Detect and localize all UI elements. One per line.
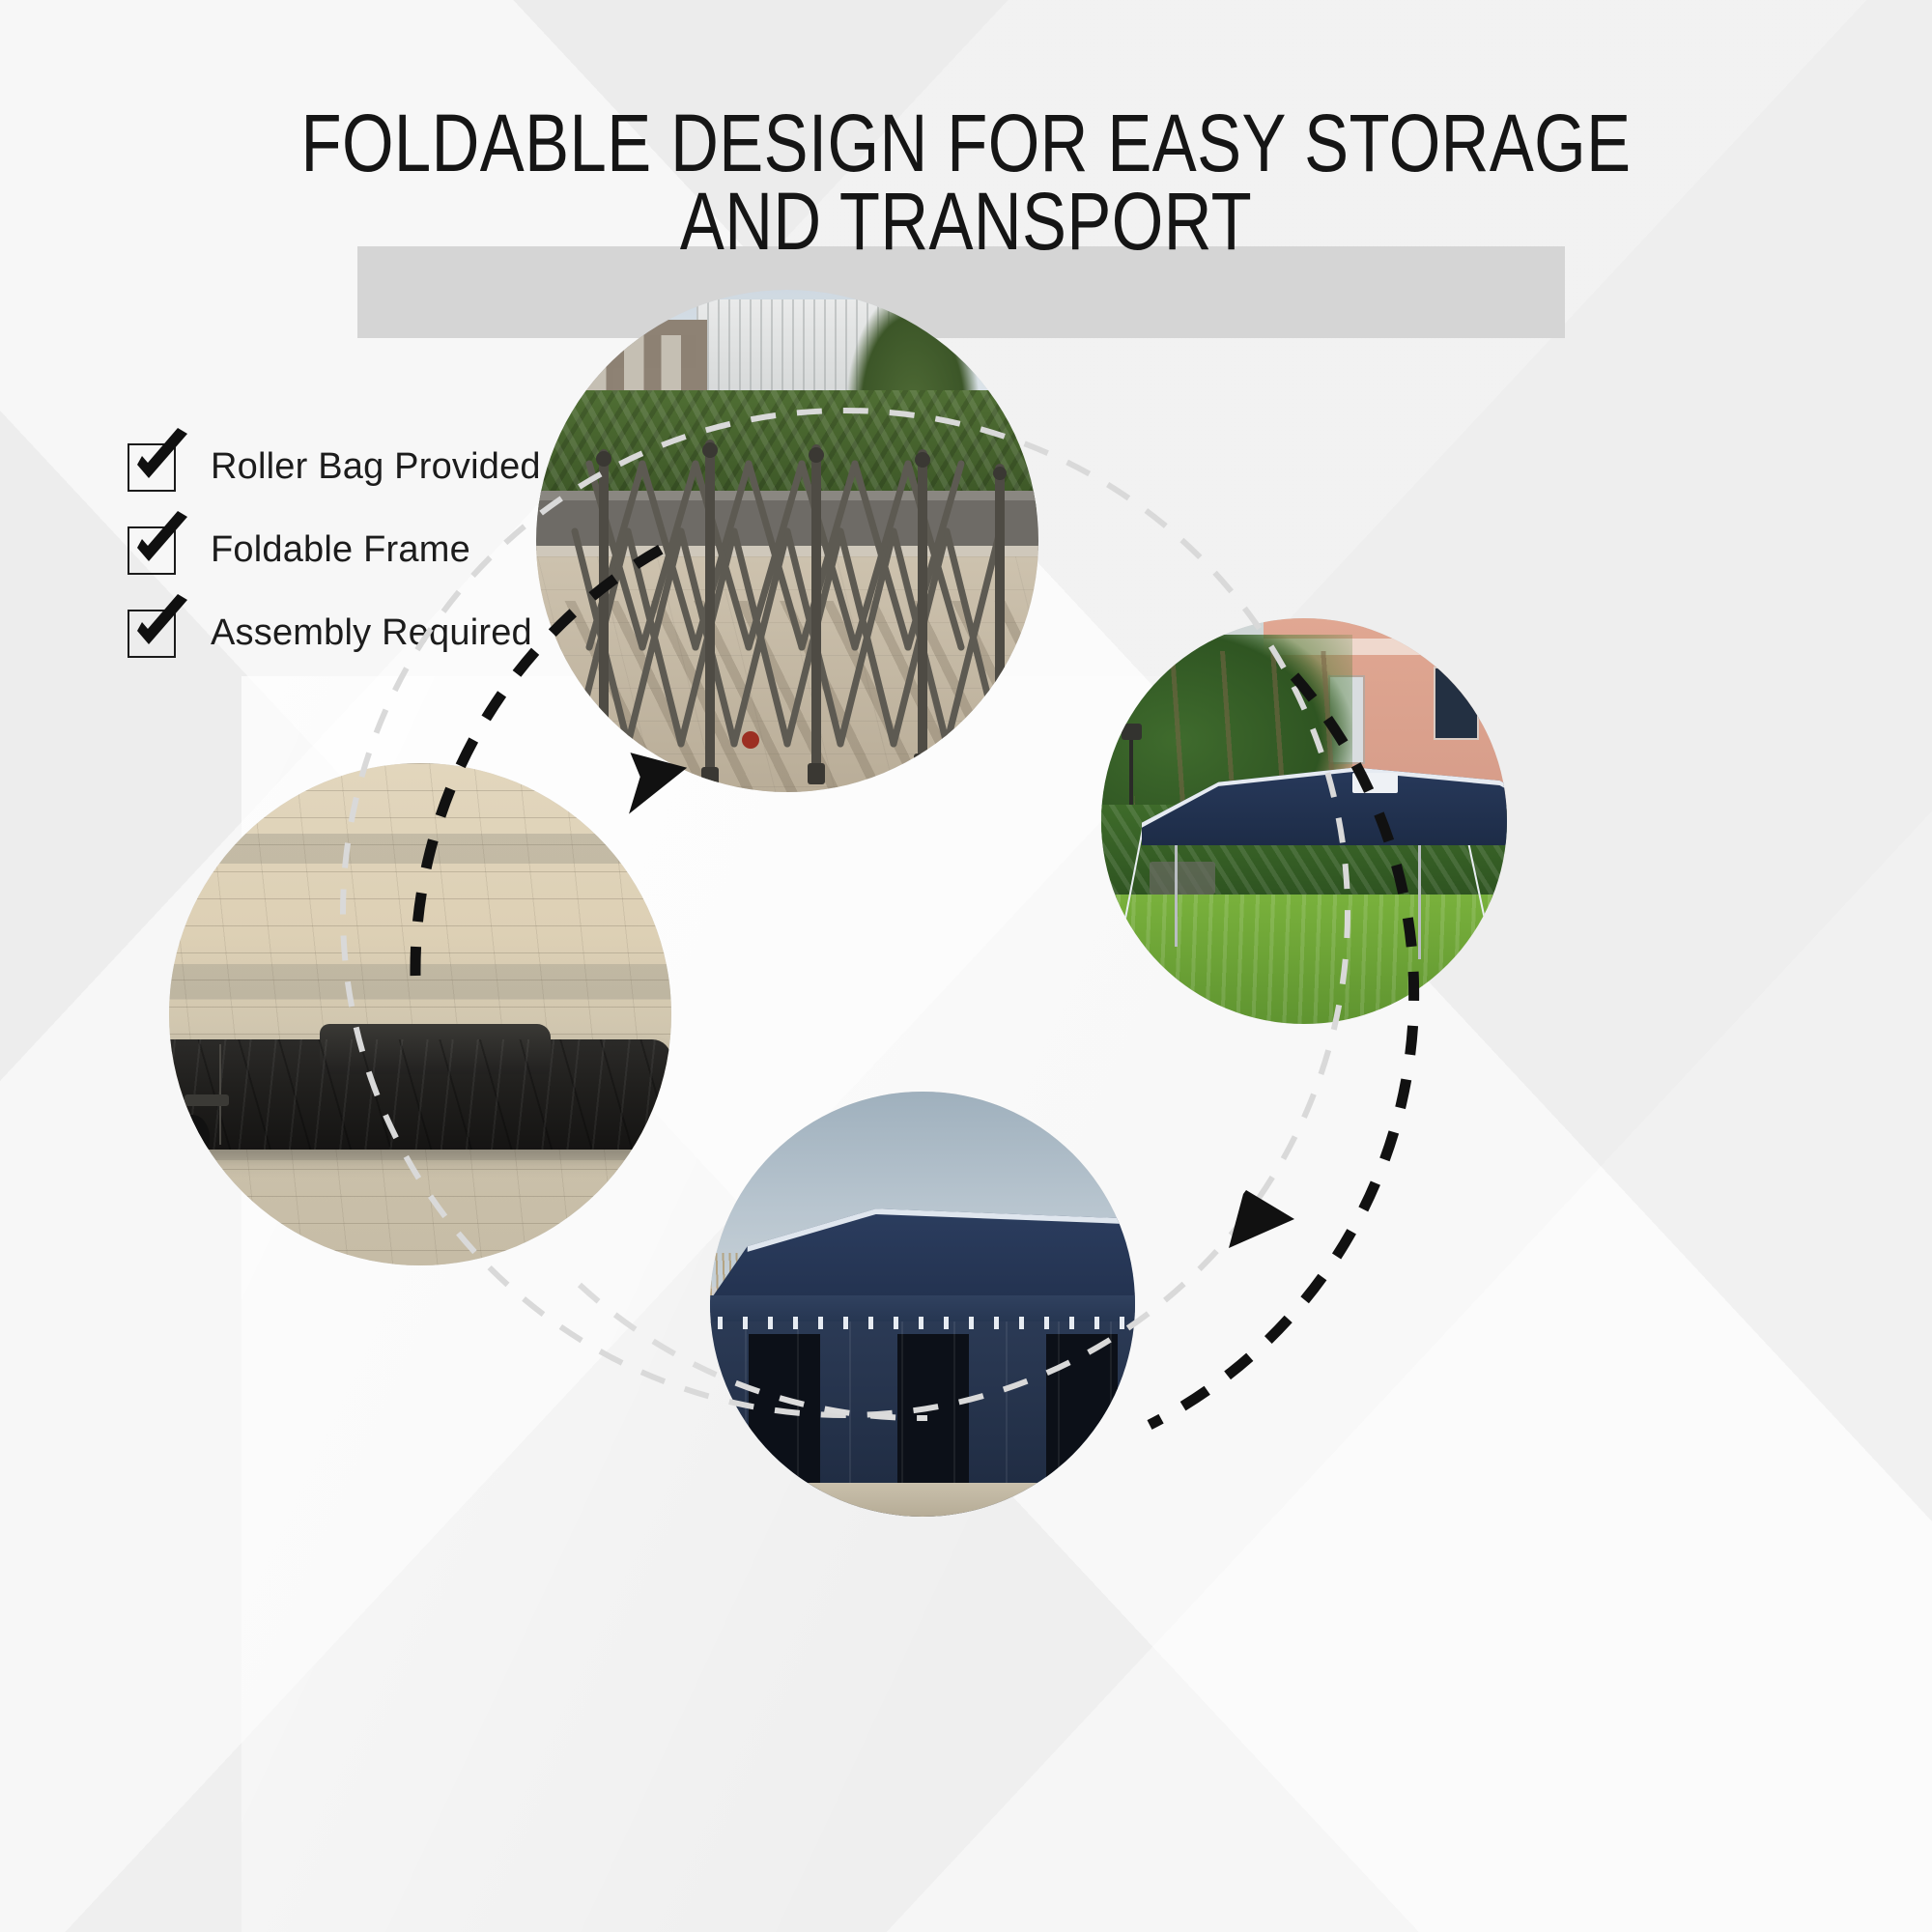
page-title: FOLDABLE DESIGN FOR EASY STORAGE AND TRA… [253, 104, 1679, 260]
paving-joints [169, 763, 671, 1265]
carry-bag-creases [169, 1039, 671, 1150]
lamp-head [1122, 724, 1142, 740]
photo-canopy-with-sidewalls [710, 1092, 1135, 1517]
ground [710, 1483, 1135, 1517]
infographic-canvas: FOLDABLE DESIGN FOR EASY STORAGE AND TRA… [0, 0, 1932, 1932]
canopy-vent-panel [1352, 773, 1397, 793]
feature-label: Foldable Frame [211, 529, 470, 571]
canopy-leg-left [1175, 834, 1178, 948]
checkbox-checked-icon [128, 440, 182, 494]
carry-bag-handle [185, 1094, 230, 1105]
checkbox-checked-icon [128, 523, 182, 577]
villa-shutter-window [1434, 667, 1478, 740]
canopy-leg-right [1418, 841, 1421, 959]
feature-label: Assembly Required [211, 612, 532, 654]
photo-canopy-on-lawn [1101, 618, 1507, 1024]
carry-bag-wheel [174, 1115, 209, 1160]
garden-bench [1150, 862, 1214, 895]
sidewall-hooks [710, 1317, 1135, 1329]
arrow-head-icon [1229, 1190, 1294, 1248]
checkbox-checked-icon [128, 606, 182, 660]
lawn-texture [1101, 895, 1507, 1024]
photo-roller-bag [169, 763, 671, 1265]
photo-folded-frame [536, 290, 1038, 792]
feature-label: Roller Bag Provided [211, 446, 541, 488]
scissor-lattice-frame [536, 290, 1038, 792]
